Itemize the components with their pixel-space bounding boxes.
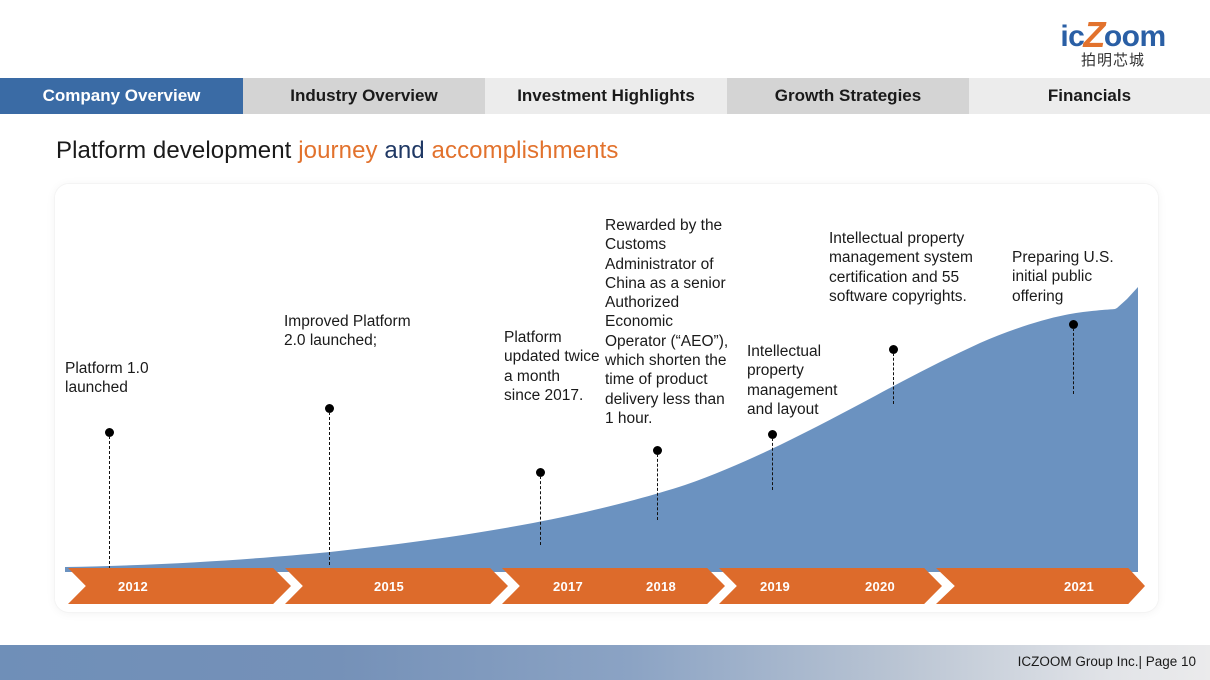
marker-stem (772, 438, 773, 490)
marker-stem (657, 454, 658, 520)
slide: icZoom 拍明芯城 Company Overview Industry Ov… (0, 0, 1210, 680)
logo-wordmark: icZoom (1060, 16, 1165, 52)
title-segment-and: and (378, 137, 432, 164)
iczoom-logo: icZoom 拍明芯城 (1038, 14, 1188, 70)
callout-2017: Platform updated twice a month since 201… (504, 328, 600, 405)
marker-stem (329, 412, 330, 565)
logo-text-z: Z (1083, 17, 1105, 53)
footer-bar: ICZOOM Group Inc.| Page 10 (0, 645, 1210, 680)
timeline-chevron-2017-2018[interactable]: 2017 2018 (502, 568, 725, 604)
tab-label: Investment Highlights (517, 86, 695, 106)
marker-stem (893, 353, 894, 404)
tab-company-overview[interactable]: Company Overview (0, 78, 243, 114)
timeline-year-label: 2018 (646, 579, 676, 594)
callout-2020: Intellectual property management system … (829, 229, 989, 306)
title-segment-journey: journey (298, 137, 377, 164)
page-title: Platform development journey and accompl… (56, 137, 618, 165)
timeline-chevron-2021[interactable]: 2021 (936, 568, 1145, 604)
tab-label: Industry Overview (290, 86, 437, 106)
marker-stem (540, 476, 541, 545)
timeline-year-label: 2019 (760, 579, 790, 594)
area-chart-fill (65, 287, 1138, 572)
timeline-chevron-2015[interactable]: 2015 (285, 568, 508, 604)
callout-2015: Improved Platform 2.0 launched; (284, 312, 414, 351)
timeline-chevron-2019-2020[interactable]: 2019 2020 (719, 568, 942, 604)
timeline-card: Platform 1.0 launched Improved Platform … (55, 184, 1158, 612)
callout-2012: Platform 1.0 launched (65, 359, 215, 398)
timeline-year-label: 2012 (118, 579, 148, 594)
tab-label: Financials (1048, 86, 1131, 106)
nav-tabs: Company Overview Industry Overview Inves… (0, 78, 1210, 114)
marker-stem (1073, 328, 1074, 394)
tab-financials[interactable]: Financials (969, 78, 1210, 114)
logo-text-oom: oom (1104, 22, 1166, 52)
tab-growth-strategies[interactable]: Growth Strategies (727, 78, 969, 114)
timeline-year-label: 2021 (1064, 579, 1094, 594)
timeline-year-label: 2020 (865, 579, 895, 594)
logo-text-ic: ic (1060, 22, 1084, 52)
timeline-year-label: 2017 (553, 579, 583, 594)
title-segment-plain: Platform development (56, 137, 298, 164)
tab-label: Company Overview (43, 86, 201, 106)
timeline-chevron-2012[interactable]: 2012 (68, 568, 291, 604)
tab-label: Growth Strategies (775, 86, 921, 106)
logo-chinese-name: 拍明芯城 (1081, 53, 1145, 68)
callout-2019: Intellectual property management and lay… (747, 342, 845, 419)
timeline-bar: 2012 2015 2017 2018 2019 2020 2021 (55, 568, 1158, 604)
callout-2018: Rewarded by the Customs Administrator of… (605, 216, 735, 428)
marker-stem (109, 436, 110, 574)
tab-investment-highlights[interactable]: Investment Highlights (485, 78, 727, 114)
tab-industry-overview[interactable]: Industry Overview (243, 78, 485, 114)
timeline-year-label: 2015 (374, 579, 404, 594)
title-segment-accomplishments: accomplishments (432, 137, 619, 164)
callout-2021: Preparing U.S. initial public offering (1012, 248, 1132, 306)
footer-text: ICZOOM Group Inc.| Page 10 (1018, 654, 1196, 669)
